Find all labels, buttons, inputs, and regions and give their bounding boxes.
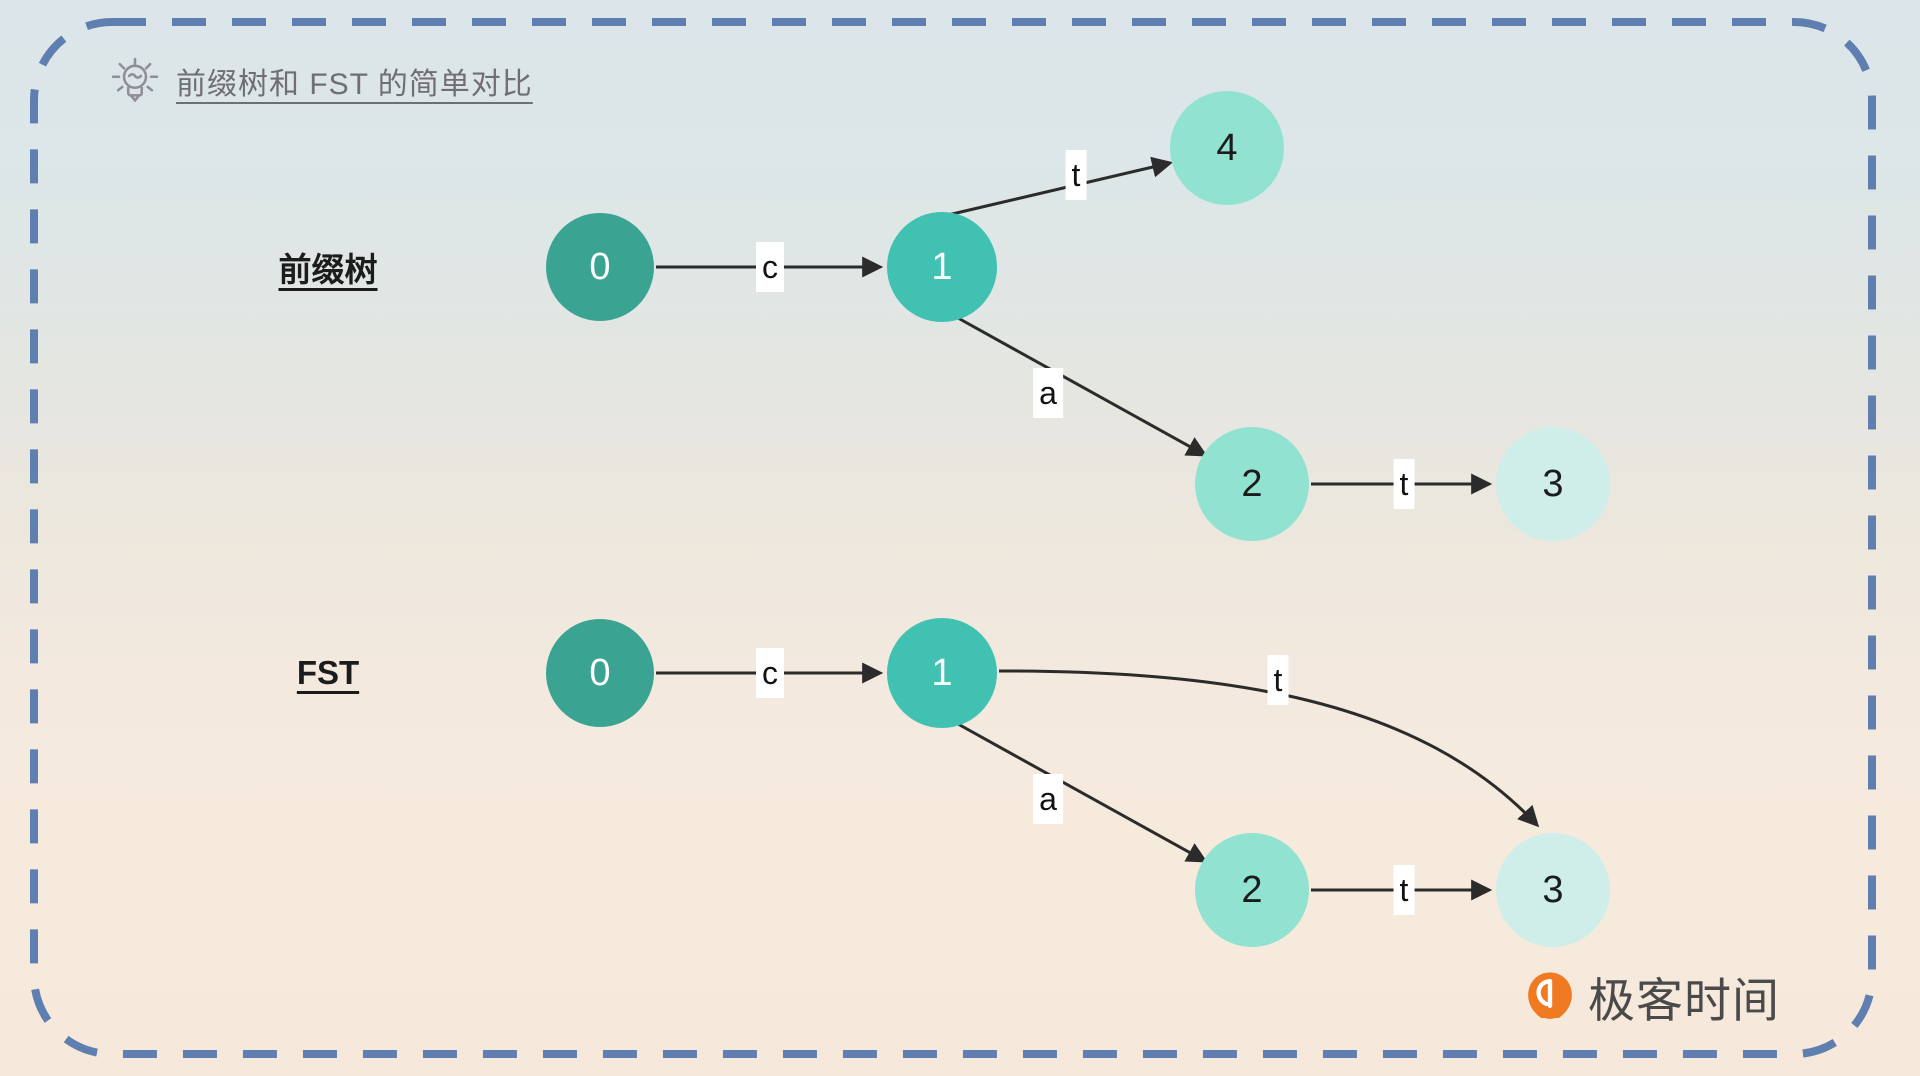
edge-trie-1-2 [958,318,1205,455]
node-label: 2 [1241,869,1262,912]
node-trie-0[interactable]: 0 [546,213,654,321]
node-trie-2[interactable]: 2 [1195,427,1309,541]
graph-edges [0,0,1920,1076]
node-label: 3 [1542,463,1563,506]
node-label: 1 [931,246,952,289]
edge-label-fst-t1: t [1268,655,1289,705]
edge-trie-1-4 [948,163,1170,215]
edge-fst-1-2 [958,724,1205,861]
geektime-logo: 极客时间 [1522,962,1780,1031]
geektime-logo-icon [1522,969,1578,1025]
node-label: 0 [589,652,610,695]
node-label: 4 [1216,127,1237,170]
edge-label-trie-a: a [1033,368,1063,418]
node-fst-2[interactable]: 2 [1195,833,1309,947]
edge-label-fst-c: c [756,648,784,698]
node-label: 2 [1241,463,1262,506]
diagram-canvas: 前缀树和 FST 的简单对比 前缀树 FST 0 1 4 2 3 0 1 2 3 [0,0,1920,1076]
node-label: 3 [1542,869,1563,912]
edge-label-fst-t2: t [1394,865,1415,915]
edge-label-trie-c: c [756,242,784,292]
logo-text: 极客时间 [1588,962,1780,1031]
node-trie-4[interactable]: 4 [1170,91,1284,205]
edge-label-fst-a: a [1033,774,1063,824]
node-fst-3[interactable]: 3 [1496,833,1610,947]
node-label: 1 [931,652,952,695]
node-fst-1[interactable]: 1 [887,618,997,728]
edge-label-trie-t1: t [1066,150,1087,200]
node-label: 0 [589,246,610,289]
node-trie-1[interactable]: 1 [887,212,997,322]
node-fst-0[interactable]: 0 [546,619,654,727]
node-trie-3[interactable]: 3 [1496,427,1610,541]
edge-label-trie-t2: t [1394,459,1415,509]
